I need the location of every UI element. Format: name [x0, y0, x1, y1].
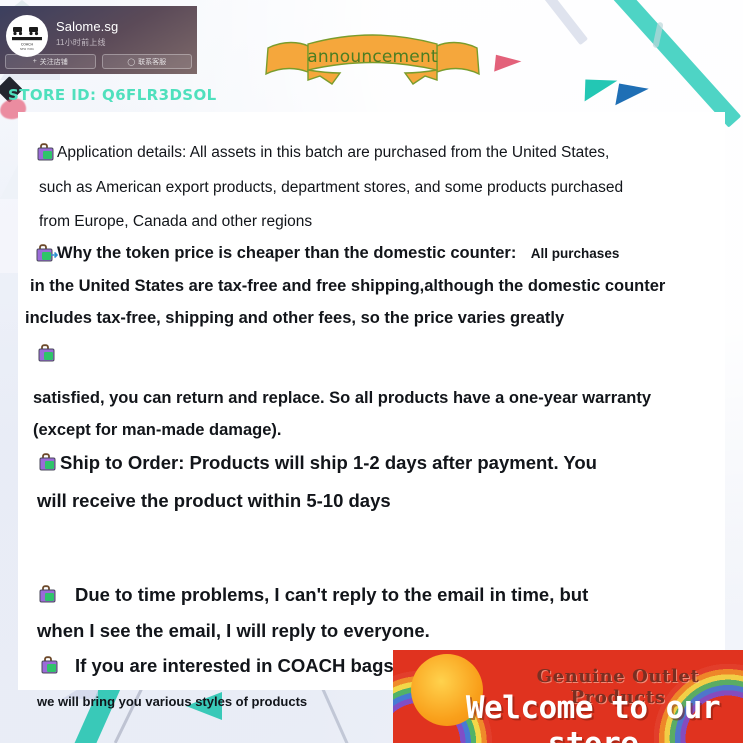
- paragraph-line: Ship to Order: Products will ship 1-2 da…: [20, 452, 723, 474]
- store-id-label: STORE ID: Q6FLR3DSOL: [8, 86, 217, 104]
- announcement-label: announcement: [262, 47, 483, 67]
- contact-service-label: 联系客服: [138, 57, 166, 67]
- paragraph-line: when I see the email, I will reply to ev…: [20, 620, 723, 642]
- plus-icon: +: [33, 58, 37, 65]
- decor-pink-triangle-icon: [494, 55, 522, 75]
- paragraph-token-price: Why the token price is cheaper than the …: [20, 244, 723, 328]
- store-card-actions: + 关注店铺 ◯ 联系客服: [5, 54, 192, 69]
- store-name: Salome.sg: [56, 19, 118, 34]
- promo-subtitle: Welcome to our store: [445, 690, 741, 743]
- paragraph-line-text: such as American export products, depart…: [39, 179, 623, 196]
- paragraph-line-text: includes tax-free, shipping and other fe…: [25, 309, 564, 327]
- paragraph-line-text: we will bring you various styles of prod…: [37, 694, 307, 709]
- chat-icon: ◯: [127, 58, 135, 66]
- decor-teal-triangle-icon: [585, 79, 618, 102]
- paragraph-line: includes tax-free, shipping and other fe…: [20, 309, 723, 328]
- paragraph-line-text: in the United States are tax-free and fr…: [30, 277, 665, 295]
- paragraph-application-details: Application details: All assets in this …: [20, 144, 723, 231]
- paragraph-line: from Europe, Canada and other regions: [20, 213, 723, 231]
- paragraph-line: (except for man-made damage).: [20, 421, 723, 440]
- shopping-bag-icon: [40, 656, 59, 675]
- paragraph-line-text: Due to time problems, I can't reply to t…: [75, 584, 588, 605]
- paragraph-icon-line: [20, 344, 723, 366]
- paragraph-line: such as American export products, depart…: [20, 179, 723, 197]
- paragraph-line-text: will receive the product within 5-10 day…: [37, 490, 391, 511]
- announcement-ribbon: announcement: [262, 28, 483, 86]
- paragraph-line-text: from Europe, Canada and other regions: [39, 213, 312, 230]
- shopping-bag-arrow-icon: [36, 244, 55, 263]
- svg-text:NEW YORK: NEW YORK: [20, 47, 34, 51]
- contact-service-button[interactable]: ◯ 联系客服: [102, 54, 193, 69]
- shopping-bag-icon: [36, 143, 55, 162]
- paragraph-line-text: satisfied, you can return and replace. S…: [33, 389, 651, 407]
- paragraph-line-text: (except for man-made damage).: [33, 421, 281, 439]
- paragraph-email-reply: Due to time problems, I can't reply to t…: [20, 584, 723, 642]
- paragraph-ship-to-order: Ship to Order: Products will ship 1-2 da…: [20, 452, 723, 512]
- paragraph-line: will receive the product within 5-10 day…: [20, 490, 723, 512]
- shopping-bag-icon: [38, 453, 57, 472]
- store-card[interactable]: COACH NEW YORK Salome.sg 11小时前上线 + 关注店铺 …: [0, 6, 197, 74]
- follow-store-label: 关注店铺: [40, 57, 68, 67]
- paragraph-line-text: Ship to Order: Products will ship 1-2 da…: [60, 452, 597, 473]
- paragraph-return-warranty: satisfied, you can return and replace. S…: [20, 344, 723, 440]
- promo-banner[interactable]: Genuine Outlet Products Welcome to our s…: [393, 650, 743, 743]
- paragraph-line: Application details: All assets in this …: [20, 144, 723, 162]
- paragraph-line: in the United States are tax-free and fr…: [20, 277, 723, 296]
- shopping-bag-icon: [37, 344, 56, 363]
- paragraph-line: Why the token price is cheaper than the …: [20, 244, 723, 263]
- store-avatar: COACH NEW YORK: [6, 15, 48, 57]
- paragraph-line-text: Why the token price is cheaper than the …: [57, 244, 516, 262]
- paragraph-line-text: Application details: All assets in this …: [57, 144, 609, 161]
- paragraph-line: Due to time problems, I can't reply to t…: [20, 584, 723, 606]
- follow-store-button[interactable]: + 关注店铺: [5, 54, 96, 69]
- paragraph-line: satisfied, you can return and replace. S…: [20, 389, 723, 408]
- paragraph-line-text-cont: All purchases: [531, 246, 620, 261]
- paragraph-line-text: when I see the email, I will reply to ev…: [37, 620, 430, 641]
- shopping-bag-icon: [38, 585, 57, 604]
- store-subtitle: 11小时前上线: [56, 37, 106, 48]
- announcement-content-panel: Application details: All assets in this …: [18, 112, 725, 690]
- svg-text:COACH: COACH: [21, 43, 34, 47]
